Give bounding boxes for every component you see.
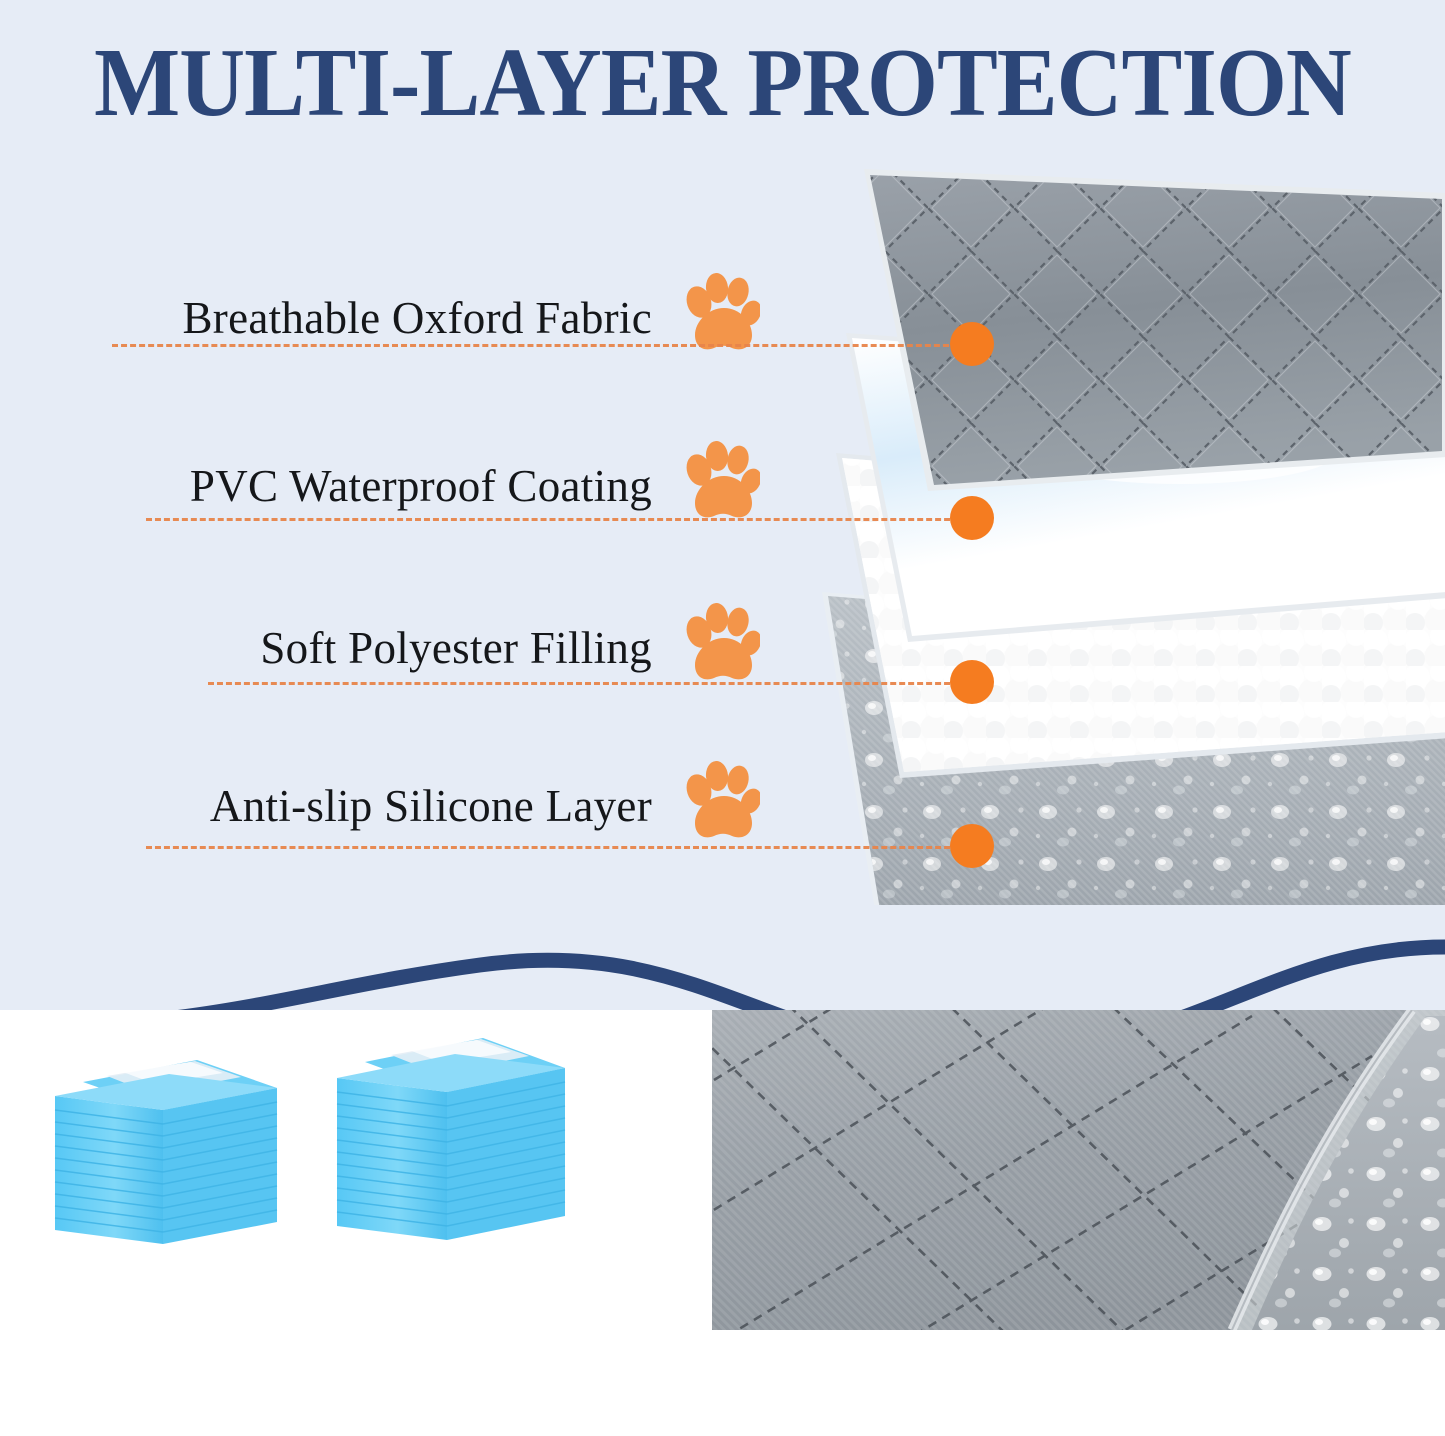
connector-line-1	[112, 344, 967, 347]
page-title: MULTI-LAYER PROTECTION	[51, 34, 1395, 134]
connector-dot-4	[950, 824, 994, 868]
connector-dot-2	[950, 496, 994, 540]
connector-line-3	[208, 682, 968, 685]
feature-label-3: Soft Polyester Filling	[260, 622, 652, 674]
paw-icon	[682, 440, 760, 524]
connector-line-4	[146, 846, 968, 849]
pad-stack-1	[45, 1048, 300, 1273]
feature-row-4: Anti-slip Silicone Layer	[125, 738, 760, 858]
feature-row-1: Breathable Oxford Fabric	[90, 250, 760, 370]
connector-dot-3	[950, 660, 994, 704]
feature-label-4: Anti-slip Silicone Layer	[210, 780, 652, 832]
paw-icon	[682, 602, 760, 686]
paw-icon	[682, 760, 760, 844]
multi-layer-section: MULTI-LAYER PROTECTION	[0, 0, 1445, 1010]
comparison-section: Disposable Mats Frequent replacement and…	[0, 1010, 1445, 1436]
disposable-mats-photo	[0, 1010, 712, 1330]
playpen-liner-photo	[712, 1010, 1445, 1330]
layer-stack-illustration	[800, 150, 1445, 980]
feature-label-1: Breathable Oxford Fabric	[182, 292, 652, 344]
oxford-quilted-fabric-layer	[842, 165, 1445, 495]
feature-label-2: PVC Waterproof Coating	[190, 460, 652, 512]
connector-dot-1	[950, 322, 994, 366]
pad-stack-2	[325, 1028, 590, 1273]
connector-line-2	[146, 518, 968, 521]
infographic-canvas: MULTI-LAYER PROTECTION	[0, 0, 1445, 1436]
